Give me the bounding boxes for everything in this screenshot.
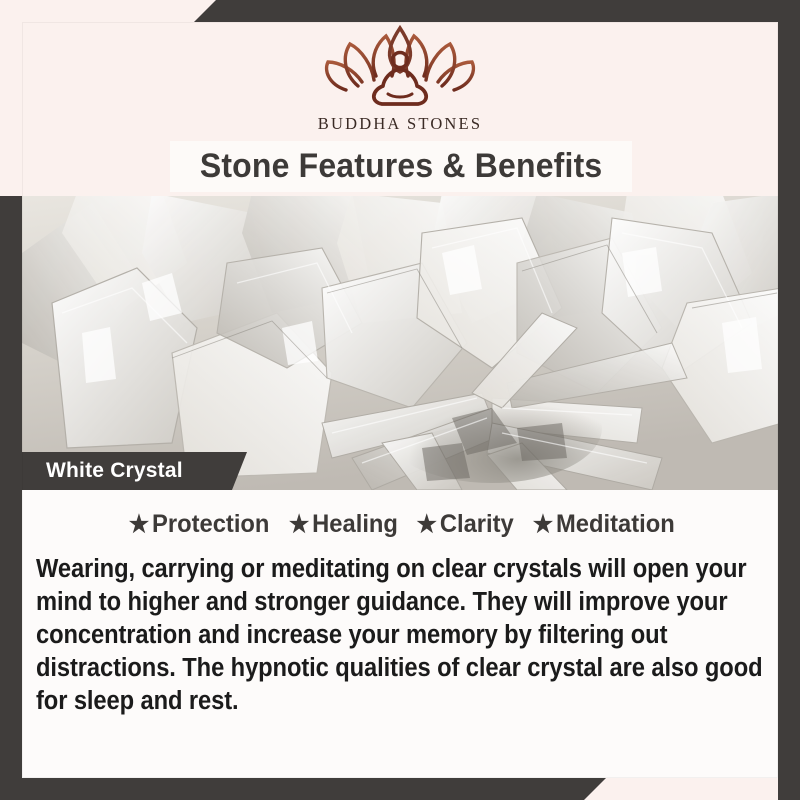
benefit-item: ★Meditation: [533, 510, 675, 539]
star-icon: ★: [533, 511, 556, 538]
brand-name: BUDDHA STONES: [0, 114, 800, 134]
benefit-label: Clarity: [440, 510, 514, 538]
page-title: Stone Features & Benefits: [200, 147, 603, 186]
page-title-plate: Stone Features & Benefits: [170, 141, 632, 192]
benefit-label: Protection: [152, 510, 269, 538]
star-icon: ★: [289, 511, 312, 538]
benefit-item: ★Clarity: [417, 510, 514, 539]
content-panel: ★Protection★Healing★Clarity★Meditation W…: [22, 490, 782, 778]
benefit-item: ★Healing: [289, 510, 398, 539]
benefit-item: ★Protection: [129, 510, 270, 539]
white-crystal-cluster-photo: [22, 193, 782, 490]
benefit-label: Meditation: [556, 510, 675, 538]
brand-logo: BUDDHA STONES: [0, 24, 800, 134]
stone-description: Wearing, carrying or meditating on clear…: [36, 553, 799, 718]
benefit-label: Healing: [312, 510, 398, 538]
benefits-list: ★Protection★Healing★Clarity★Meditation: [22, 510, 782, 539]
corner-decoration-bottom: [0, 778, 800, 800]
star-icon: ★: [129, 511, 152, 538]
lotus-meditation-figure-icon: [310, 24, 490, 110]
corner-decoration-right: [778, 0, 800, 800]
stone-info-card: BUDDHA STONES Stone Features & Benefits: [0, 0, 800, 800]
corner-decoration-left: [0, 196, 22, 800]
stone-name-badge: White Crystal: [22, 452, 247, 490]
star-icon: ★: [417, 511, 440, 538]
stone-name: White Crystal: [22, 459, 183, 483]
